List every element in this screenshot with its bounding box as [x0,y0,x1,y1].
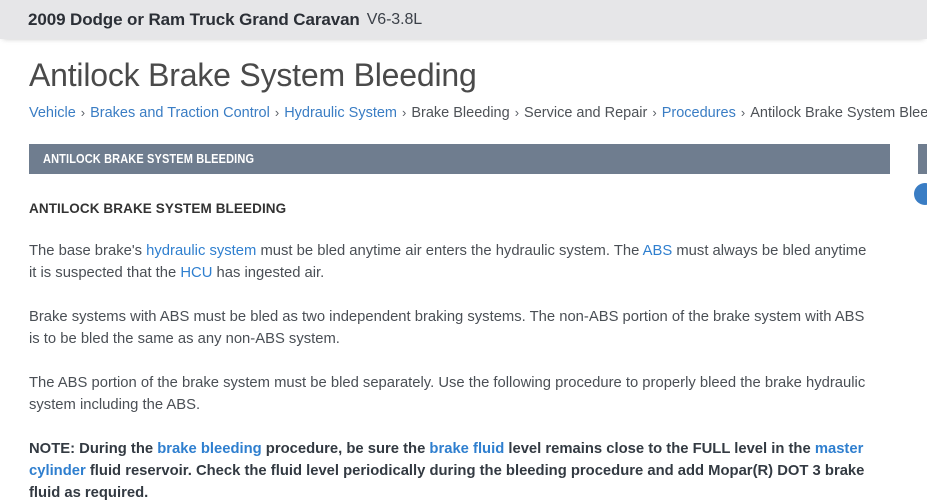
breadcrumb-separator: › [275,105,279,120]
vehicle-engine-label: V6-3.8L [367,11,422,29]
article-sub-heading: ANTILOCK BRAKE SYSTEM BLEEDING [29,200,871,218]
paragraph-4-note: NOTE: During the brake bleeding procedur… [29,438,871,504]
vehicle-header-bar: 2009 Dodge or Ram Truck Grand Caravan V6… [0,0,927,39]
breadcrumb-item-3: Brake Bleeding [411,105,509,121]
breadcrumb-item-6: Antilock Brake System Bleeding [750,105,927,121]
paragraph-3: The ABS portion of the brake system must… [29,372,871,416]
section-title-bar-secondary [918,144,927,174]
breadcrumb-separator: › [81,105,85,120]
breadcrumb-separator: › [652,105,656,120]
breadcrumb-separator: › [741,105,745,120]
page-title: Antilock Brake System Bleeding [0,55,927,95]
note-text-3: level remains close to the FULL level in… [504,441,815,457]
breadcrumb-item-4: Service and Repair [524,105,647,121]
section-title-bar-label: ANTILOCK BRAKE SYSTEM BLEEDING [43,152,254,166]
breadcrumb-separator: › [402,105,406,120]
breadcrumb-item-0[interactable]: Vehicle [29,105,76,121]
link-hcu[interactable]: HCU [180,265,212,281]
vehicle-name-label: 2009 Dodge or Ram Truck Grand Caravan [28,10,360,30]
page-container: Antilock Brake System Bleeding Vehicle›B… [0,55,927,504]
paragraph-1-text-1: The base brake's [29,243,146,259]
link-brake-fluid[interactable]: brake fluid [429,441,504,457]
breadcrumb-item-5[interactable]: Procedures [662,105,736,121]
breadcrumb-item-1[interactable]: Brakes and Traction Control [90,105,270,121]
link-abs[interactable]: ABS [643,243,673,259]
paragraph-1-text-4: has ingested air. [212,265,324,281]
breadcrumb-separator: › [515,105,519,120]
breadcrumb: Vehicle›Brakes and Traction Control›Hydr… [0,103,927,123]
note-text-1: NOTE: During the [29,441,157,457]
article-content: ANTILOCK BRAKE SYSTEM BLEEDING The base … [0,200,900,504]
paragraph-1-text-2: must be bled anytime air enters the hydr… [256,243,642,259]
section-title-bar: ANTILOCK BRAKE SYSTEM BLEEDING [29,144,890,174]
link-brake-bleeding[interactable]: brake bleeding [157,441,261,457]
paragraph-2: Brake systems with ABS must be bled as t… [29,306,871,350]
breadcrumb-item-2[interactable]: Hydraulic System [284,105,397,121]
info-circle-icon[interactable] [914,183,927,205]
link-hydraulic-system[interactable]: hydraulic system [146,243,256,259]
note-text-4: fluid reservoir. Check the fluid level p… [29,463,864,501]
note-text-2: procedure, be sure the [262,441,430,457]
section-bar-row: ANTILOCK BRAKE SYSTEM BLEEDING [0,144,927,174]
paragraph-1: The base brake's hydraulic system must b… [29,240,871,284]
